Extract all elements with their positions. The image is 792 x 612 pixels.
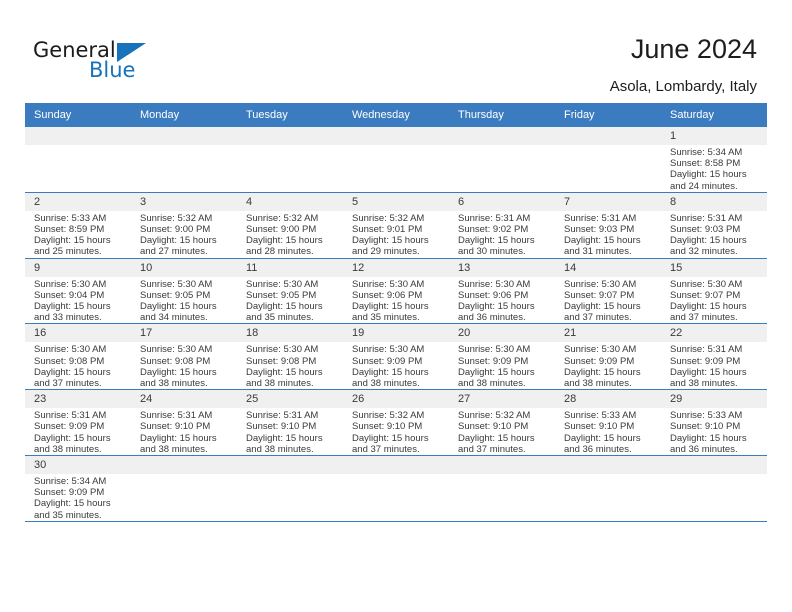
- calendar-day-cell[interactable]: 8Sunrise: 5:31 AMSunset: 9:03 PMDaylight…: [661, 192, 767, 258]
- day-sun-info: Sunrise: 5:32 AMSunset: 9:10 PMDaylight:…: [343, 408, 449, 455]
- day-number: [131, 456, 237, 474]
- calendar-week-row: 2Sunrise: 5:33 AMSunset: 8:59 PMDaylight…: [25, 192, 767, 258]
- weekday-header-monday: Monday: [131, 103, 237, 127]
- day-number: [449, 456, 555, 474]
- day-sun-info: Sunrise: 5:32 AMSunset: 9:00 PMDaylight:…: [131, 211, 237, 258]
- sunrise-text: Sunrise: 5:33 AM: [34, 213, 126, 224]
- daylight-text-line1: Daylight: 15 hours: [140, 301, 232, 312]
- daylight-text-line1: Daylight: 15 hours: [458, 367, 550, 378]
- sunrise-text: Sunrise: 5:32 AM: [352, 410, 444, 421]
- page-header: General Blue June 2024 Asola, Lombardy, …: [0, 0, 792, 100]
- day-sun-info: Sunrise: 5:30 AMSunset: 9:07 PMDaylight:…: [661, 277, 767, 324]
- daylight-text-line1: Daylight: 15 hours: [34, 367, 126, 378]
- sunrise-text: Sunrise: 5:34 AM: [670, 147, 762, 158]
- day-sun-info: Sunrise: 5:31 AMSunset: 9:10 PMDaylight:…: [131, 408, 237, 455]
- calendar-day-cell[interactable]: 1Sunrise: 5:34 AMSunset: 8:58 PMDaylight…: [661, 127, 767, 192]
- sunrise-text: Sunrise: 5:30 AM: [246, 344, 338, 355]
- sunrise-text: Sunrise: 5:34 AM: [34, 476, 126, 487]
- sunrise-text: Sunrise: 5:30 AM: [140, 344, 232, 355]
- calendar-day-cell[interactable]: 5Sunrise: 5:32 AMSunset: 9:01 PMDaylight…: [343, 192, 449, 258]
- sunrise-text: Sunrise: 5:31 AM: [140, 410, 232, 421]
- daylight-text-line1: Daylight: 15 hours: [246, 367, 338, 378]
- calendar-day-cell[interactable]: 4Sunrise: 5:32 AMSunset: 9:00 PMDaylight…: [237, 192, 343, 258]
- day-number: 16: [25, 324, 131, 342]
- day-sun-info: Sunrise: 5:31 AMSunset: 9:10 PMDaylight:…: [237, 408, 343, 455]
- calendar-day-cell[interactable]: 12Sunrise: 5:30 AMSunset: 9:06 PMDayligh…: [343, 258, 449, 324]
- sunset-text: Sunset: 9:07 PM: [670, 290, 762, 301]
- calendar-day-cell[interactable]: 13Sunrise: 5:30 AMSunset: 9:06 PMDayligh…: [449, 258, 555, 324]
- calendar-day-cell[interactable]: 3Sunrise: 5:32 AMSunset: 9:00 PMDaylight…: [131, 192, 237, 258]
- day-number: 25: [237, 390, 343, 408]
- day-number: 8: [661, 193, 767, 211]
- day-sun-info: Sunrise: 5:31 AMSunset: 9:02 PMDaylight:…: [449, 211, 555, 258]
- sunrise-text: Sunrise: 5:32 AM: [140, 213, 232, 224]
- daylight-text-line1: Daylight: 15 hours: [34, 301, 126, 312]
- sunset-text: Sunset: 9:08 PM: [34, 356, 126, 367]
- daylight-text-line1: Daylight: 15 hours: [670, 433, 762, 444]
- sunset-text: Sunset: 9:09 PM: [34, 421, 126, 432]
- daylight-text-line1: Daylight: 15 hours: [352, 235, 444, 246]
- sunset-text: Sunset: 9:08 PM: [246, 356, 338, 367]
- daylight-text-line1: Daylight: 15 hours: [458, 235, 550, 246]
- day-number: [661, 456, 767, 474]
- daylight-text-line1: Daylight: 15 hours: [246, 301, 338, 312]
- daylight-text-line1: Daylight: 15 hours: [352, 367, 444, 378]
- daylight-text-line1: Daylight: 15 hours: [34, 235, 126, 246]
- calendar-day-cell-empty: [237, 456, 343, 522]
- day-number: 20: [449, 324, 555, 342]
- calendar-day-cell[interactable]: 25Sunrise: 5:31 AMSunset: 9:10 PMDayligh…: [237, 390, 343, 456]
- calendar-day-cell[interactable]: 21Sunrise: 5:30 AMSunset: 9:09 PMDayligh…: [555, 324, 661, 390]
- daylight-text-line1: Daylight: 15 hours: [670, 235, 762, 246]
- calendar-day-cell-empty: [449, 456, 555, 522]
- day-number: [343, 127, 449, 145]
- day-number: 19: [343, 324, 449, 342]
- daylight-text-line1: Daylight: 15 hours: [140, 367, 232, 378]
- calendar-week-row: 16Sunrise: 5:30 AMSunset: 9:08 PMDayligh…: [25, 324, 767, 390]
- day-number: 3: [131, 193, 237, 211]
- calendar-day-cell[interactable]: 9Sunrise: 5:30 AMSunset: 9:04 PMDaylight…: [25, 258, 131, 324]
- day-number: [131, 127, 237, 145]
- day-sun-info: Sunrise: 5:30 AMSunset: 9:08 PMDaylight:…: [25, 342, 131, 389]
- day-sun-info: Sunrise: 5:30 AMSunset: 9:08 PMDaylight:…: [131, 342, 237, 389]
- day-number: 18: [237, 324, 343, 342]
- logo-text-blue: Blue: [89, 58, 135, 82]
- day-number: 29: [661, 390, 767, 408]
- calendar-day-cell-empty: [555, 456, 661, 522]
- calendar-body: 1Sunrise: 5:34 AMSunset: 8:58 PMDaylight…: [25, 127, 767, 521]
- sunrise-text: Sunrise: 5:31 AM: [564, 213, 656, 224]
- daylight-text-line2: and 34 minutes.: [140, 312, 232, 323]
- sunset-text: Sunset: 9:10 PM: [352, 421, 444, 432]
- sunset-text: Sunset: 9:09 PM: [564, 356, 656, 367]
- sunset-text: Sunset: 9:00 PM: [246, 224, 338, 235]
- sunset-text: Sunset: 9:09 PM: [352, 356, 444, 367]
- calendar-day-cell[interactable]: 23Sunrise: 5:31 AMSunset: 9:09 PMDayligh…: [25, 390, 131, 456]
- day-number: 26: [343, 390, 449, 408]
- daylight-text-line1: Daylight: 15 hours: [564, 301, 656, 312]
- weekday-header-thursday: Thursday: [449, 103, 555, 127]
- calendar-week-row: 1Sunrise: 5:34 AMSunset: 8:58 PMDaylight…: [25, 127, 767, 192]
- day-sun-info: Sunrise: 5:34 AMSunset: 8:58 PMDaylight:…: [661, 145, 767, 192]
- calendar-day-cell[interactable]: 28Sunrise: 5:33 AMSunset: 9:10 PMDayligh…: [555, 390, 661, 456]
- sunrise-text: Sunrise: 5:30 AM: [458, 279, 550, 290]
- day-number: 27: [449, 390, 555, 408]
- calendar-day-cell[interactable]: 11Sunrise: 5:30 AMSunset: 9:05 PMDayligh…: [237, 258, 343, 324]
- sunrise-text: Sunrise: 5:30 AM: [140, 279, 232, 290]
- page-title: June 2024: [631, 34, 757, 65]
- day-sun-info: Sunrise: 5:31 AMSunset: 9:09 PMDaylight:…: [25, 408, 131, 455]
- day-number: 11: [237, 259, 343, 277]
- daylight-text-line2: and 38 minutes.: [34, 444, 126, 455]
- day-sun-info: Sunrise: 5:30 AMSunset: 9:09 PMDaylight:…: [343, 342, 449, 389]
- sunset-text: Sunset: 9:09 PM: [34, 487, 126, 498]
- calendar-day-cell[interactable]: 30Sunrise: 5:34 AMSunset: 9:09 PMDayligh…: [25, 456, 131, 522]
- day-number: 22: [661, 324, 767, 342]
- day-sun-info: Sunrise: 5:31 AMSunset: 9:03 PMDaylight:…: [661, 211, 767, 258]
- sunset-text: Sunset: 9:00 PM: [140, 224, 232, 235]
- daylight-text-line2: and 30 minutes.: [458, 246, 550, 257]
- calendar-day-cell[interactable]: 19Sunrise: 5:30 AMSunset: 9:09 PMDayligh…: [343, 324, 449, 390]
- calendar-week-row: 30Sunrise: 5:34 AMSunset: 9:09 PMDayligh…: [25, 456, 767, 522]
- daylight-text-line2: and 38 minutes.: [458, 378, 550, 389]
- sunset-text: Sunset: 9:09 PM: [670, 356, 762, 367]
- weekday-header-friday: Friday: [555, 103, 661, 127]
- sunrise-text: Sunrise: 5:30 AM: [670, 279, 762, 290]
- daylight-text-line2: and 37 minutes.: [670, 312, 762, 323]
- day-sun-info: Sunrise: 5:32 AMSunset: 9:10 PMDaylight:…: [449, 408, 555, 455]
- page-subtitle-location: Asola, Lombardy, Italy: [610, 78, 757, 95]
- daylight-text-line2: and 38 minutes.: [140, 378, 232, 389]
- day-number: 14: [555, 259, 661, 277]
- sunrise-text: Sunrise: 5:33 AM: [670, 410, 762, 421]
- sunset-text: Sunset: 9:03 PM: [564, 224, 656, 235]
- calendar-day-cell[interactable]: 22Sunrise: 5:31 AMSunset: 9:09 PMDayligh…: [661, 324, 767, 390]
- sunrise-text: Sunrise: 5:30 AM: [352, 279, 444, 290]
- calendar-day-cell-empty: [555, 127, 661, 192]
- sunset-text: Sunset: 9:01 PM: [352, 224, 444, 235]
- sunset-text: Sunset: 9:10 PM: [458, 421, 550, 432]
- day-number: [449, 127, 555, 145]
- sunrise-text: Sunrise: 5:31 AM: [246, 410, 338, 421]
- daylight-text-line2: and 25 minutes.: [34, 246, 126, 257]
- calendar-week-row: 9Sunrise: 5:30 AMSunset: 9:04 PMDaylight…: [25, 258, 767, 324]
- daylight-text-line2: and 29 minutes.: [352, 246, 444, 257]
- calendar-day-cell[interactable]: 29Sunrise: 5:33 AMSunset: 9:10 PMDayligh…: [661, 390, 767, 456]
- sunset-text: Sunset: 9:06 PM: [352, 290, 444, 301]
- sunset-text: Sunset: 8:59 PM: [34, 224, 126, 235]
- day-number: [343, 456, 449, 474]
- sunrise-text: Sunrise: 5:30 AM: [34, 344, 126, 355]
- daylight-text-line2: and 35 minutes.: [34, 510, 126, 521]
- daylight-text-line2: and 38 minutes.: [564, 378, 656, 389]
- day-sun-info: Sunrise: 5:32 AMSunset: 9:00 PMDaylight:…: [237, 211, 343, 258]
- generalblue-logo[interactable]: General Blue: [33, 38, 233, 90]
- calendar-day-cell[interactable]: 7Sunrise: 5:31 AMSunset: 9:03 PMDaylight…: [555, 192, 661, 258]
- sunrise-text: Sunrise: 5:32 AM: [458, 410, 550, 421]
- daylight-text-line2: and 35 minutes.: [352, 312, 444, 323]
- daylight-text-line2: and 37 minutes.: [352, 444, 444, 455]
- calendar-day-cell[interactable]: 18Sunrise: 5:30 AMSunset: 9:08 PMDayligh…: [237, 324, 343, 390]
- daylight-text-line1: Daylight: 15 hours: [670, 301, 762, 312]
- weekday-header-tuesday: Tuesday: [237, 103, 343, 127]
- sunset-text: Sunset: 9:04 PM: [34, 290, 126, 301]
- month-calendar-table: Sunday Monday Tuesday Wednesday Thursday…: [25, 103, 767, 522]
- daylight-text-line2: and 28 minutes.: [246, 246, 338, 257]
- daylight-text-line2: and 27 minutes.: [140, 246, 232, 257]
- day-number: 6: [449, 193, 555, 211]
- sunset-text: Sunset: 9:10 PM: [246, 421, 338, 432]
- daylight-text-line1: Daylight: 15 hours: [564, 235, 656, 246]
- day-sun-info: Sunrise: 5:33 AMSunset: 9:10 PMDaylight:…: [661, 408, 767, 455]
- sunrise-text: Sunrise: 5:30 AM: [246, 279, 338, 290]
- calendar-day-cell[interactable]: 2Sunrise: 5:33 AMSunset: 8:59 PMDaylight…: [25, 192, 131, 258]
- calendar-day-cell-empty: [343, 456, 449, 522]
- day-number: [237, 456, 343, 474]
- sunrise-text: Sunrise: 5:33 AM: [564, 410, 656, 421]
- day-number: 4: [237, 193, 343, 211]
- calendar-day-cell[interactable]: 15Sunrise: 5:30 AMSunset: 9:07 PMDayligh…: [661, 258, 767, 324]
- sunrise-text: Sunrise: 5:30 AM: [352, 344, 444, 355]
- daylight-text-line2: and 36 minutes.: [458, 312, 550, 323]
- calendar-day-cell[interactable]: 26Sunrise: 5:32 AMSunset: 9:10 PMDayligh…: [343, 390, 449, 456]
- weekday-header-saturday: Saturday: [661, 103, 767, 127]
- sunrise-text: Sunrise: 5:30 AM: [458, 344, 550, 355]
- day-sun-info: Sunrise: 5:30 AMSunset: 9:08 PMDaylight:…: [237, 342, 343, 389]
- calendar-day-cell[interactable]: 10Sunrise: 5:30 AMSunset: 9:05 PMDayligh…: [131, 258, 237, 324]
- day-number: 2: [25, 193, 131, 211]
- daylight-text-line2: and 36 minutes.: [564, 444, 656, 455]
- sunset-text: Sunset: 9:10 PM: [140, 421, 232, 432]
- calendar-day-cell-empty: [131, 127, 237, 192]
- day-number: 30: [25, 456, 131, 474]
- day-sun-info: Sunrise: 5:33 AMSunset: 9:10 PMDaylight:…: [555, 408, 661, 455]
- calendar-day-cell-empty: [661, 456, 767, 522]
- sunset-text: Sunset: 9:07 PM: [564, 290, 656, 301]
- daylight-text-line1: Daylight: 15 hours: [246, 235, 338, 246]
- daylight-text-line1: Daylight: 15 hours: [246, 433, 338, 444]
- day-number: 28: [555, 390, 661, 408]
- daylight-text-line2: and 37 minutes.: [34, 378, 126, 389]
- calendar-day-cell-empty: [25, 127, 131, 192]
- day-number: 5: [343, 193, 449, 211]
- day-sun-info: Sunrise: 5:30 AMSunset: 9:06 PMDaylight:…: [449, 277, 555, 324]
- daylight-text-line1: Daylight: 15 hours: [140, 433, 232, 444]
- day-sun-info: Sunrise: 5:30 AMSunset: 9:05 PMDaylight:…: [237, 277, 343, 324]
- day-sun-info: Sunrise: 5:30 AMSunset: 9:09 PMDaylight:…: [555, 342, 661, 389]
- daylight-text-line1: Daylight: 15 hours: [564, 367, 656, 378]
- sunset-text: Sunset: 9:03 PM: [670, 224, 762, 235]
- day-number: 17: [131, 324, 237, 342]
- sunrise-text: Sunrise: 5:32 AM: [246, 213, 338, 224]
- day-sun-info: Sunrise: 5:30 AMSunset: 9:09 PMDaylight:…: [449, 342, 555, 389]
- day-number: 7: [555, 193, 661, 211]
- daylight-text-line1: Daylight: 15 hours: [140, 235, 232, 246]
- daylight-text-line1: Daylight: 15 hours: [564, 433, 656, 444]
- calendar-week-row: 23Sunrise: 5:31 AMSunset: 9:09 PMDayligh…: [25, 390, 767, 456]
- day-number: 15: [661, 259, 767, 277]
- calendar-day-cell[interactable]: 24Sunrise: 5:31 AMSunset: 9:10 PMDayligh…: [131, 390, 237, 456]
- day-number: 23: [25, 390, 131, 408]
- weekday-header-row: Sunday Monday Tuesday Wednesday Thursday…: [25, 103, 767, 127]
- daylight-text-line1: Daylight: 15 hours: [34, 498, 126, 509]
- calendar-page: General Blue June 2024 Asola, Lombardy, …: [0, 0, 792, 612]
- day-number: [237, 127, 343, 145]
- day-number: [555, 456, 661, 474]
- sunrise-text: Sunrise: 5:31 AM: [670, 213, 762, 224]
- day-number: 24: [131, 390, 237, 408]
- sunset-text: Sunset: 9:02 PM: [458, 224, 550, 235]
- sunset-text: Sunset: 9:05 PM: [140, 290, 232, 301]
- daylight-text-line2: and 36 minutes.: [670, 444, 762, 455]
- day-sun-info: Sunrise: 5:33 AMSunset: 8:59 PMDaylight:…: [25, 211, 131, 258]
- sunset-text: Sunset: 9:06 PM: [458, 290, 550, 301]
- calendar-day-cell-empty: [237, 127, 343, 192]
- weekday-header-wednesday: Wednesday: [343, 103, 449, 127]
- sunrise-text: Sunrise: 5:31 AM: [670, 344, 762, 355]
- day-number: 10: [131, 259, 237, 277]
- daylight-text-line1: Daylight: 15 hours: [670, 169, 762, 180]
- daylight-text-line2: and 31 minutes.: [564, 246, 656, 257]
- day-sun-info: Sunrise: 5:32 AMSunset: 9:01 PMDaylight:…: [343, 211, 449, 258]
- daylight-text-line2: and 37 minutes.: [564, 312, 656, 323]
- daylight-text-line1: Daylight: 15 hours: [458, 433, 550, 444]
- day-number: 12: [343, 259, 449, 277]
- sunset-text: Sunset: 9:10 PM: [670, 421, 762, 432]
- day-sun-info: Sunrise: 5:34 AMSunset: 9:09 PMDaylight:…: [25, 474, 131, 521]
- day-sun-info: Sunrise: 5:30 AMSunset: 9:06 PMDaylight:…: [343, 277, 449, 324]
- calendar-day-cell[interactable]: 14Sunrise: 5:30 AMSunset: 9:07 PMDayligh…: [555, 258, 661, 324]
- daylight-text-line2: and 38 minutes.: [246, 378, 338, 389]
- calendar-day-cell-empty: [449, 127, 555, 192]
- day-sun-info: Sunrise: 5:30 AMSunset: 9:05 PMDaylight:…: [131, 277, 237, 324]
- sunset-text: Sunset: 8:58 PM: [670, 158, 762, 169]
- daylight-text-line2: and 33 minutes.: [34, 312, 126, 323]
- daylight-text-line2: and 37 minutes.: [458, 444, 550, 455]
- calendar-day-cell[interactable]: 20Sunrise: 5:30 AMSunset: 9:09 PMDayligh…: [449, 324, 555, 390]
- daylight-text-line2: and 38 minutes.: [140, 444, 232, 455]
- calendar-day-cell-empty: [343, 127, 449, 192]
- day-number: [25, 127, 131, 145]
- daylight-text-line2: and 38 minutes.: [670, 378, 762, 389]
- sunset-text: Sunset: 9:05 PM: [246, 290, 338, 301]
- daylight-text-line1: Daylight: 15 hours: [34, 433, 126, 444]
- calendar-day-cell[interactable]: 27Sunrise: 5:32 AMSunset: 9:10 PMDayligh…: [449, 390, 555, 456]
- sunrise-text: Sunrise: 5:30 AM: [34, 279, 126, 290]
- sunrise-text: Sunrise: 5:30 AM: [564, 344, 656, 355]
- daylight-text-line1: Daylight: 15 hours: [352, 433, 444, 444]
- calendar-day-cell[interactable]: 6Sunrise: 5:31 AMSunset: 9:02 PMDaylight…: [449, 192, 555, 258]
- daylight-text-line2: and 38 minutes.: [352, 378, 444, 389]
- daylight-text-line1: Daylight: 15 hours: [352, 301, 444, 312]
- daylight-text-line1: Daylight: 15 hours: [458, 301, 550, 312]
- sunrise-text: Sunrise: 5:30 AM: [564, 279, 656, 290]
- calendar-day-cell-empty: [131, 456, 237, 522]
- day-sun-info: Sunrise: 5:31 AMSunset: 9:03 PMDaylight:…: [555, 211, 661, 258]
- calendar-day-cell[interactable]: 17Sunrise: 5:30 AMSunset: 9:08 PMDayligh…: [131, 324, 237, 390]
- sunrise-text: Sunrise: 5:32 AM: [352, 213, 444, 224]
- day-number: 21: [555, 324, 661, 342]
- sunset-text: Sunset: 9:10 PM: [564, 421, 656, 432]
- day-sun-info: Sunrise: 5:30 AMSunset: 9:07 PMDaylight:…: [555, 277, 661, 324]
- daylight-text-line2: and 38 minutes.: [246, 444, 338, 455]
- day-number: 13: [449, 259, 555, 277]
- sunset-text: Sunset: 9:08 PM: [140, 356, 232, 367]
- weekday-header-sunday: Sunday: [25, 103, 131, 127]
- day-number: 1: [661, 127, 767, 145]
- daylight-text-line1: Daylight: 15 hours: [670, 367, 762, 378]
- daylight-text-line2: and 32 minutes.: [670, 246, 762, 257]
- daylight-text-line2: and 24 minutes.: [670, 181, 762, 192]
- day-sun-info: Sunrise: 5:31 AMSunset: 9:09 PMDaylight:…: [661, 342, 767, 389]
- day-number: [555, 127, 661, 145]
- sunrise-text: Sunrise: 5:31 AM: [458, 213, 550, 224]
- sunset-text: Sunset: 9:09 PM: [458, 356, 550, 367]
- day-number: 9: [25, 259, 131, 277]
- sunrise-text: Sunrise: 5:31 AM: [34, 410, 126, 421]
- day-sun-info: Sunrise: 5:30 AMSunset: 9:04 PMDaylight:…: [25, 277, 131, 324]
- daylight-text-line2: and 35 minutes.: [246, 312, 338, 323]
- calendar-day-cell[interactable]: 16Sunrise: 5:30 AMSunset: 9:08 PMDayligh…: [25, 324, 131, 390]
